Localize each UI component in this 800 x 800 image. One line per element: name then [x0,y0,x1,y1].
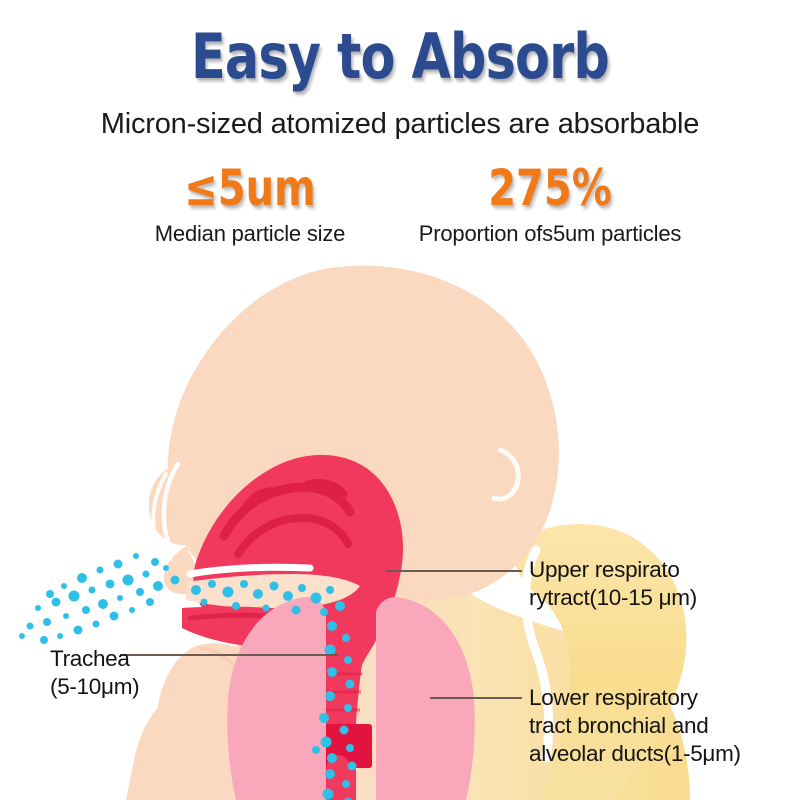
stat-value: ≤5um [130,160,370,216]
poster-canvas: Easy to Absorb Micron-sized atomized par… [0,0,800,800]
callout-line: tract bronchial and [529,712,741,740]
callout-line: Lower respiratory [529,684,741,712]
page-title: Easy to Absorb [72,24,728,90]
callout-line: Upper respirato [529,556,697,584]
callout-lower-respiratory-tract: Lower respiratory tract bronchial and al… [529,684,741,768]
stat-label: Proportion ofs5um particles [400,220,700,248]
callout-upper-respiratory-tract: Upper respirato rytract(10-15 μm) [529,556,697,612]
stat-median-particle-size: ≤5um Median particle size [100,160,400,248]
callout-line: (5-10μm) [50,673,139,701]
callout-line: Trachea [50,645,139,673]
stats-row: ≤5um Median particle size 275% Proportio… [0,160,800,248]
page-subtitle: Micron-sized atomized particles are abso… [0,106,800,142]
atomized-particle-spray [19,553,180,644]
stat-proportion-5um-particles: 275% Proportion ofs5um particles [400,160,700,248]
callout-line: rytract(10-15 μm) [529,584,697,612]
stat-label: Median particle size [100,220,400,248]
stat-value: 275% [430,160,670,216]
callout-line: alveolar ducts(1-5μm) [529,740,741,768]
callout-trachea: Trachea (5-10μm) [50,645,139,701]
